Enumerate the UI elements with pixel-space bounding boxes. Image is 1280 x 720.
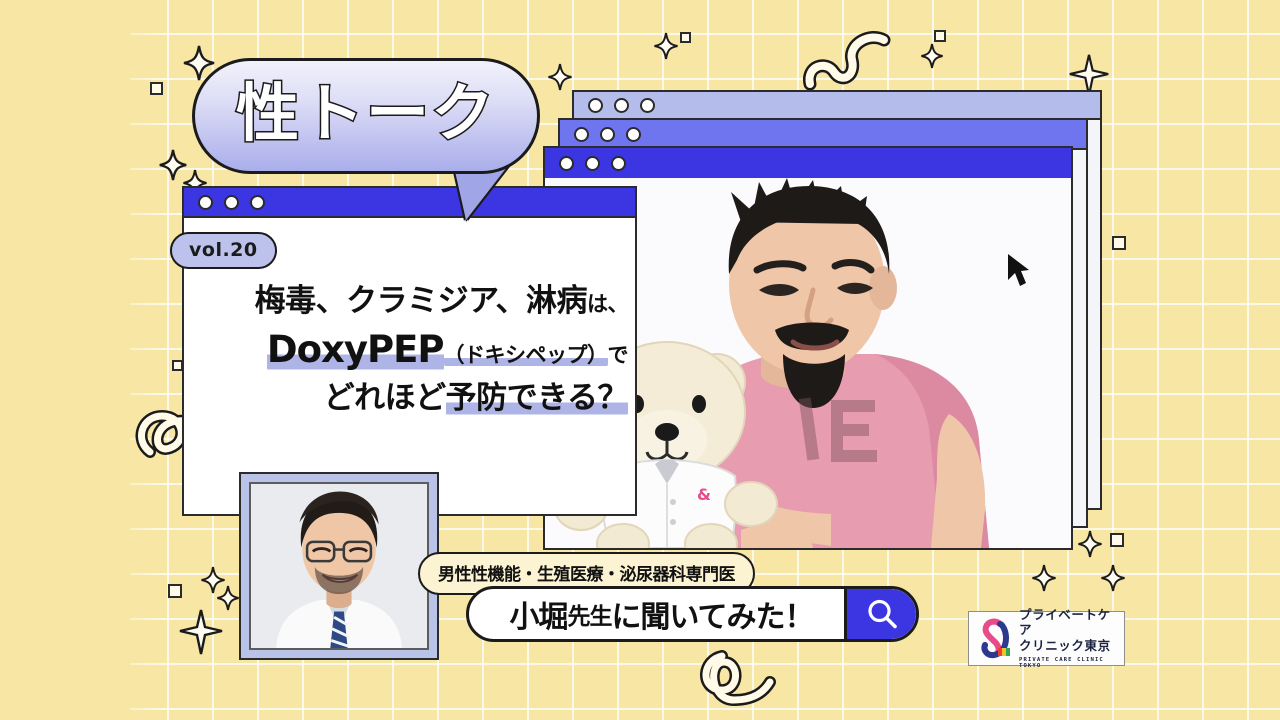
sparkle-diamond-icon <box>547 62 573 92</box>
sparkle-diamond-icon <box>1077 529 1103 559</box>
window-dot-icon[interactable] <box>585 156 600 171</box>
squiggle-doodle-bottom <box>688 648 788 718</box>
series-title: 性トーク <box>236 82 496 145</box>
search-icon <box>865 597 899 631</box>
poster-canvas: & 性トーク vol.20 梅毒、クラミジア、淋病は、 <box>0 0 1280 720</box>
search-bar[interactable]: 小堀先生に聞いてみた！ <box>466 586 919 642</box>
headline-doxypep: DoxyPEP <box>267 328 444 371</box>
window-dot-icon[interactable] <box>600 127 615 142</box>
speech-bubble: 性トーク <box>192 58 540 174</box>
sparkle-diamond-icon <box>1100 563 1126 593</box>
headline-line-1: 梅毒、クラミジア、淋病は、 <box>196 282 628 322</box>
window-dot-icon[interactable] <box>626 127 641 142</box>
square-doodle <box>680 32 691 43</box>
window-dot-icon[interactable] <box>611 156 626 171</box>
headline-line3-b: 予防できる？ <box>446 380 628 416</box>
headline-line-3: どれほど予防できる？ <box>196 379 628 419</box>
clinic-name-en: PRIVATE CARE CLINIC TOKYO <box>1019 657 1117 669</box>
window-dot-icon[interactable] <box>640 98 655 113</box>
doctor-portrait-frame <box>239 472 439 660</box>
svg-text:&: & <box>697 485 711 504</box>
square-doodle <box>934 30 946 42</box>
window-dot-icon[interactable] <box>588 98 603 113</box>
window-dot-icon[interactable] <box>614 98 629 113</box>
square-doodle <box>1112 236 1126 250</box>
ampersand-logo-icon <box>976 618 1012 660</box>
volume-badge: vol.20 <box>170 232 277 269</box>
square-doodle <box>150 82 163 95</box>
sparkle-diamond-icon <box>158 148 188 182</box>
window-dot-icon[interactable] <box>559 156 574 171</box>
sparkle-diamond-icon <box>216 584 240 612</box>
window-dot-icon[interactable] <box>250 195 265 210</box>
sparkle-diamond-icon <box>1031 563 1057 593</box>
sparkle-star-icon <box>178 608 224 656</box>
window-titlebar[interactable] <box>545 148 1071 180</box>
headline-line2-tail: で <box>608 343 629 367</box>
grid-left-fade <box>100 0 160 720</box>
sparkle-diamond-icon <box>653 31 679 61</box>
doctor-name: 小堀 <box>509 592 567 636</box>
window-titlebar[interactable] <box>574 92 1100 120</box>
headline-doxypep-reading: （ドキシペップ） <box>444 343 608 367</box>
window-dot-icon[interactable] <box>224 195 239 210</box>
square-doodle <box>168 584 182 598</box>
sparkle-diamond-icon <box>200 565 226 595</box>
headline-line3-a: どれほど <box>324 380 446 416</box>
sparkle-diamond-icon <box>920 42 944 70</box>
clinic-logo-text: プライベートケア クリニック東京 PRIVATE CARE CLINIC TOK… <box>1019 608 1117 668</box>
headline: 梅毒、クラミジア、淋病は、 DoxyPEP（ドキシペップ）で どれほど予防できる… <box>196 282 628 419</box>
window-dot-icon[interactable] <box>574 127 589 142</box>
squiggle-doodle-top-right <box>800 18 910 98</box>
headline-line1-main: 梅毒、クラミジア、淋病 <box>255 283 587 319</box>
clinic-name-line2: クリニック東京 <box>1019 639 1117 654</box>
mouse-pointer-icon <box>1006 252 1032 290</box>
window-dot-icon[interactable] <box>198 195 213 210</box>
search-button[interactable] <box>844 589 916 639</box>
headline-line-2: DoxyPEP（ドキシペップ）で <box>196 326 628 373</box>
clinic-logo: プライベートケア クリニック東京 PRIVATE CARE CLINIC TOK… <box>968 611 1125 666</box>
clinic-name-line1: プライベートケア <box>1019 608 1117 638</box>
doctor-honorific: 先生 <box>567 597 611 631</box>
search-query-text[interactable]: 小堀先生に聞いてみた！ <box>469 589 844 639</box>
search-phrase-tail: に聞いてみた！ <box>611 592 813 636</box>
square-doodle <box>1110 533 1124 547</box>
main-window-titlebar[interactable] <box>184 188 635 218</box>
headline-line1-tail: は、 <box>587 292 628 316</box>
doctor-portrait <box>249 482 429 650</box>
